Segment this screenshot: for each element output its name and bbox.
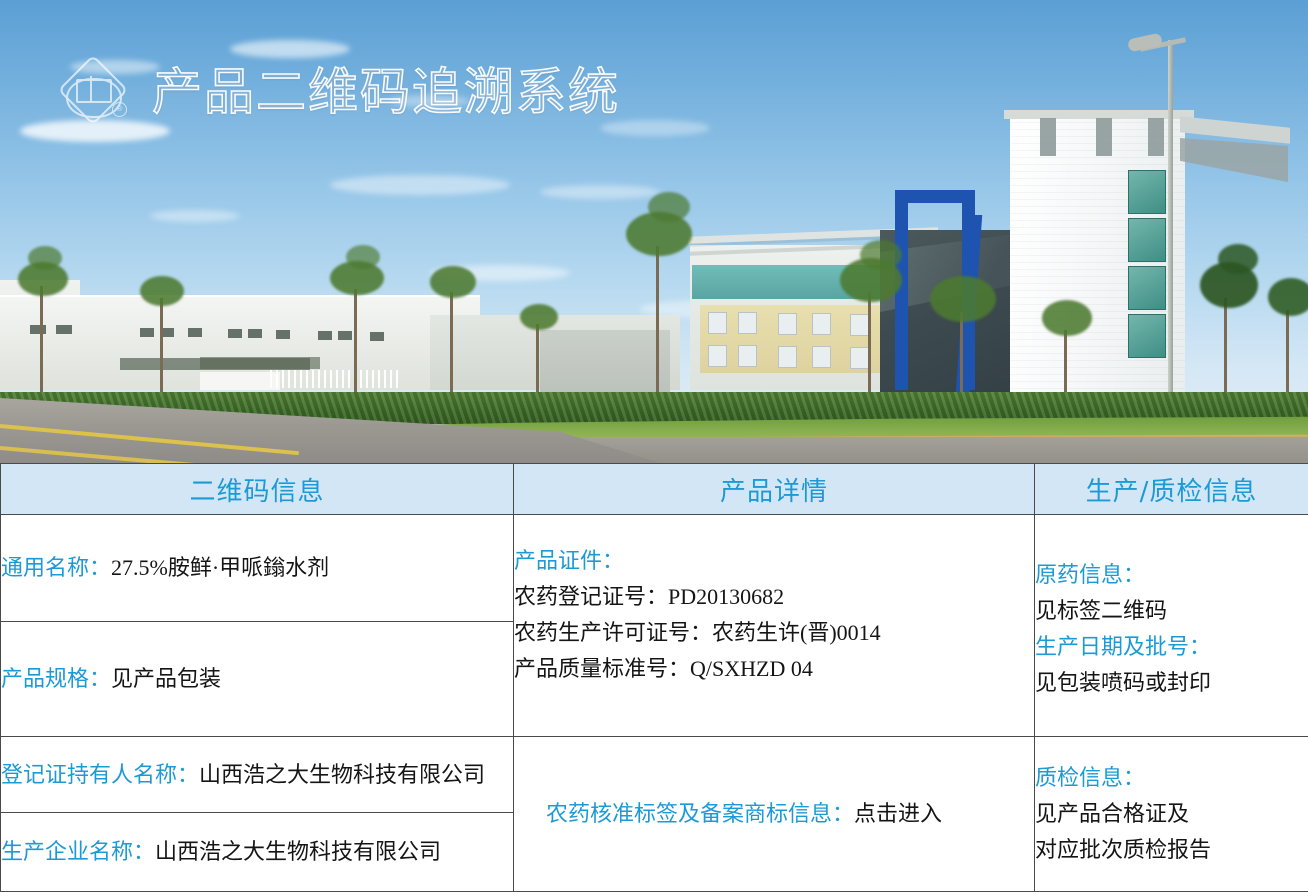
label-common-name: 通用名称：	[1, 555, 111, 580]
cell-raw-material-info: 原药信息： 见标签二维码 生产日期及批号： 见包装喷码或封印	[1035, 515, 1308, 737]
value-raw-material-info: 见标签二维码	[1035, 593, 1308, 629]
tower-slot	[1040, 118, 1056, 156]
window	[850, 314, 869, 336]
label-manufacturer: 生产企业名称：	[1, 839, 155, 864]
column-header-production-qc: 生产/质检信息	[1035, 464, 1308, 515]
window	[318, 331, 332, 340]
cloud	[330, 175, 510, 195]
tower-slot	[1148, 118, 1164, 156]
label-production-license-no: 农药生产许可证号：	[514, 620, 712, 645]
cloud	[230, 40, 350, 58]
window	[778, 346, 797, 368]
value-registration-holder: 山西浩之大生物科技有限公司	[199, 762, 485, 787]
window	[370, 332, 384, 341]
window	[708, 345, 727, 367]
table-header-row: 二维码信息 产品详情 生产/质检信息	[1, 464, 1308, 515]
link-click-to-enter[interactable]: 点击进入	[854, 801, 942, 826]
cell-approved-label-link[interactable]: 农药核准标签及备案商标信息：点击进入	[514, 737, 1035, 892]
window	[812, 313, 831, 335]
cell-product-certificates: 产品证件： 农药登记证号：PD20130682 农药生产许可证号：农药生许(晋)…	[514, 515, 1035, 737]
window	[850, 347, 869, 369]
green-glass-box	[1128, 314, 1166, 358]
cert-line-production-license: 农药生产许可证号：农药生许(晋)0014	[514, 615, 1034, 651]
label-quality-standard-no: 产品质量标准号：	[514, 656, 690, 681]
window	[188, 328, 202, 337]
traceability-page: ® 产品二维码追溯系统 二维码信息 产品详情 生产/质检信息 通用名称：27.5	[0, 0, 1308, 887]
value-common-name: 27.5%胺鲜·甲哌鎓水剂	[111, 555, 329, 580]
cloud	[540, 185, 660, 199]
tower-slot	[1096, 118, 1112, 156]
value-manufacturer: 山西浩之大生物科技有限公司	[155, 839, 441, 864]
cert-line-quality-standard: 产品质量标准号：Q/SXHZD 04	[514, 651, 1034, 687]
gate-wall	[200, 372, 280, 390]
window	[276, 330, 290, 339]
product-traceability-table: 二维码信息 产品详情 生产/质检信息 通用名称：27.5%胺鲜·甲哌鎓水剂 产品…	[0, 463, 1308, 892]
window	[738, 345, 757, 367]
window	[228, 329, 242, 338]
column-header-product-detail: 产品详情	[514, 464, 1035, 515]
label-specification: 产品规格：	[1, 666, 111, 691]
label-registration-holder: 登记证持有人名称：	[1, 762, 199, 787]
page-title: 产品二维码追溯系统	[152, 64, 620, 120]
value-production-license-no: 农药生许(晋)0014	[712, 620, 881, 645]
table-row: 通用名称：27.5%胺鲜·甲哌鎓水剂 产品证件： 农药登记证号：PD201306…	[1, 515, 1308, 622]
label-production-date-batch: 生产日期及批号：	[1035, 629, 1308, 665]
factory-building-right-2	[540, 330, 670, 392]
fence	[270, 370, 400, 388]
green-glass-box	[1128, 170, 1166, 214]
column-header-qr-info: 二维码信息	[1, 464, 514, 515]
value-qc-info-line1: 见产品合格证及	[1035, 796, 1308, 832]
window	[738, 312, 757, 334]
street-lamp-pole	[1168, 40, 1173, 440]
hero-banner-photo: ® 产品二维码追溯系统	[0, 0, 1308, 463]
table-row: 登记证持有人名称：山西浩之大生物科技有限公司 农药核准标签及备案商标信息：点击进…	[1, 737, 1308, 813]
cell-specification: 产品规格：见产品包装	[1, 622, 514, 737]
value-registration-no: PD20130682	[668, 584, 784, 609]
window	[56, 325, 72, 334]
label-registration-no: 农药登记证号：	[514, 584, 668, 609]
cell-common-name: 通用名称：27.5%胺鲜·甲哌鎓水剂	[1, 515, 514, 622]
window-strip	[200, 357, 320, 369]
brand-header: ® 产品二维码追溯系统	[62, 62, 620, 122]
window	[140, 328, 154, 337]
cell-manufacturer: 生产企业名称：山西浩之大生物科技有限公司	[1, 813, 514, 892]
window	[812, 346, 831, 368]
guoguang-diamond-logo-icon: ®	[62, 62, 130, 122]
window	[248, 329, 262, 338]
window	[338, 331, 352, 340]
cert-line-registration: 农药登记证号：PD20130682	[514, 579, 1034, 615]
label-qc-info: 质检信息：	[1035, 760, 1308, 796]
label-raw-material-info: 原药信息：	[1035, 557, 1308, 593]
cloud	[600, 120, 710, 136]
cell-qc-info: 质检信息： 见产品合格证及 对应批次质检报告	[1035, 737, 1308, 892]
green-glass-box	[1128, 218, 1166, 262]
label-approved-label-trademark: 农药核准标签及备案商标信息：	[546, 801, 854, 826]
cell-registration-holder: 登记证持有人名称：山西浩之大生物科技有限公司	[1, 737, 514, 813]
registered-mark: ®	[112, 102, 127, 117]
value-quality-standard-no: Q/SXHZD 04	[690, 656, 813, 681]
value-production-date-batch: 见包装喷码或封印	[1035, 665, 1308, 701]
cloud	[150, 210, 240, 222]
cloud	[20, 120, 170, 142]
window	[708, 312, 727, 334]
value-qc-info-line2: 对应批次质检报告	[1035, 832, 1308, 868]
green-glass-box	[1128, 266, 1166, 310]
window	[778, 313, 797, 335]
label-product-certificates: 产品证件：	[514, 543, 1034, 579]
value-specification: 见产品包装	[111, 666, 221, 691]
window	[30, 325, 46, 334]
